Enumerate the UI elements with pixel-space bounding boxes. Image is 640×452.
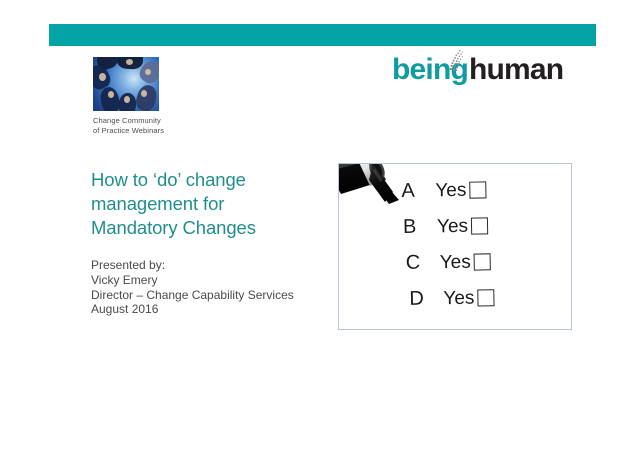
checklist-row-b[interactable]: B Yes	[403, 206, 572, 245]
being-human-logo: being human	[392, 53, 563, 87]
header-accent-bar	[49, 24, 596, 46]
thumbnail-caption: Change Community of Practice Webinars	[93, 116, 185, 135]
presenter-details: Presented by: Vicky Emery Director – Cha…	[91, 258, 351, 317]
checklist-letter-c: C	[406, 252, 440, 273]
checklist-row-a[interactable]: A Yes	[401, 170, 572, 209]
logo-word-being: being	[392, 55, 468, 85]
presentation-date: August 2016	[91, 302, 351, 317]
checkbox-a[interactable]	[469, 181, 486, 198]
checklist-yes-label-b: Yes	[437, 216, 468, 236]
thumbnail-caption-line-1: Change Community	[93, 116, 185, 126]
checkbox-d[interactable]	[477, 289, 494, 306]
slide-title-line-2: management for	[91, 192, 341, 216]
presenter-role: Director – Change Capability Services	[91, 288, 351, 303]
logo-word-human: human	[469, 55, 563, 85]
checklist-letter-a: A	[401, 180, 435, 201]
slide-title: How to ‘do’ change management for Mandat…	[91, 168, 341, 240]
group-of-people-photo	[93, 57, 159, 111]
checkbox-b[interactable]	[471, 217, 488, 234]
checklist-row-d[interactable]: D Yes	[409, 278, 572, 317]
checklist-letter-d: D	[409, 288, 443, 309]
presented-by-label: Presented by:	[91, 258, 351, 273]
checklist-yes-label-d: Yes	[443, 288, 474, 308]
checklist-rows: A Yes B Yes C Yes D Yes	[401, 170, 572, 317]
checklist-yes-label-a: Yes	[435, 180, 466, 200]
presentation-slide: Change Community of Practice Webinars be…	[0, 0, 640, 452]
checklist-image-panel: A Yes B Yes C Yes D Yes	[338, 163, 572, 330]
presenter-name: Vicky Emery	[91, 273, 351, 288]
community-thumbnail-block: Change Community of Practice Webinars	[93, 57, 173, 135]
slide-title-line-1: How to ‘do’ change	[91, 168, 341, 192]
thumbnail-caption-line-2: of Practice Webinars	[93, 126, 185, 136]
checklist-row-c[interactable]: C Yes	[405, 242, 572, 281]
slide-title-line-3: Mandatory Changes	[91, 216, 341, 240]
checklist-letter-b: B	[403, 216, 437, 237]
checkbox-c[interactable]	[474, 253, 491, 270]
checklist-yes-label-c: Yes	[440, 252, 471, 272]
